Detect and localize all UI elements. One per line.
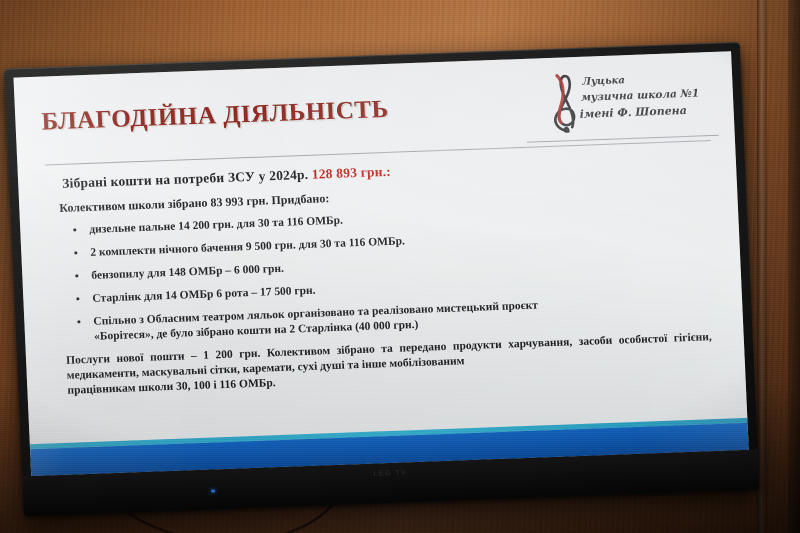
purchase-list: дизельне пальне 14 200 грн. для 30 та 11… [46,200,721,346]
list-item-text: Старлінк для 14 ОМБр 6 рота – 17 500 грн… [92,284,316,304]
logo-line-1: Луцька [582,75,625,88]
list-item-text: 2 комплекти нічного бачення 9 500 грн. д… [90,235,405,259]
slide-content: БЛАГОДІЙНА ДІЯЛЬНІСТЬ Луцька музична шко… [13,51,747,444]
list-item-text: бензопилу для 148 ОМБр – 6 000 грн. [91,263,284,282]
list-item-text: дизельне пальне 14 200 грн. для 30 та 11… [89,215,343,236]
school-logo: Луцька музична школа №1 імені Ф. Шопена [542,68,713,140]
wall-mounted-tv: БЛАГОДІЙНА ДІЯЛЬНІСТЬ Луцька музична шко… [4,42,759,517]
logo-line-2: музична школа №1 [581,87,700,103]
room-scene: БЛАГОДІЙНА ДІЯЛЬНІСТЬ Луцька музична шко… [0,0,800,533]
logo-line-3: імені Ф. Шопена [579,104,687,121]
tv-screen[interactable]: БЛАГОДІЙНА ДІЯЛЬНІСТЬ Луцька музична шко… [13,51,748,476]
tv-brand-label: LED TV [373,469,407,477]
presentation-slide: БЛАГОДІЙНА ДІЯЛЬНІСТЬ Луцька музична шко… [13,51,748,476]
power-led-indicator [211,489,215,492]
page-title: БЛАГОДІЙНА ДІЯЛЬНІСТЬ [41,96,389,137]
intro-text: Зібрані кошти на потреби ЗСУ у 2024р. [62,167,312,191]
intro-amount: 128 893 грн.: [311,164,391,182]
